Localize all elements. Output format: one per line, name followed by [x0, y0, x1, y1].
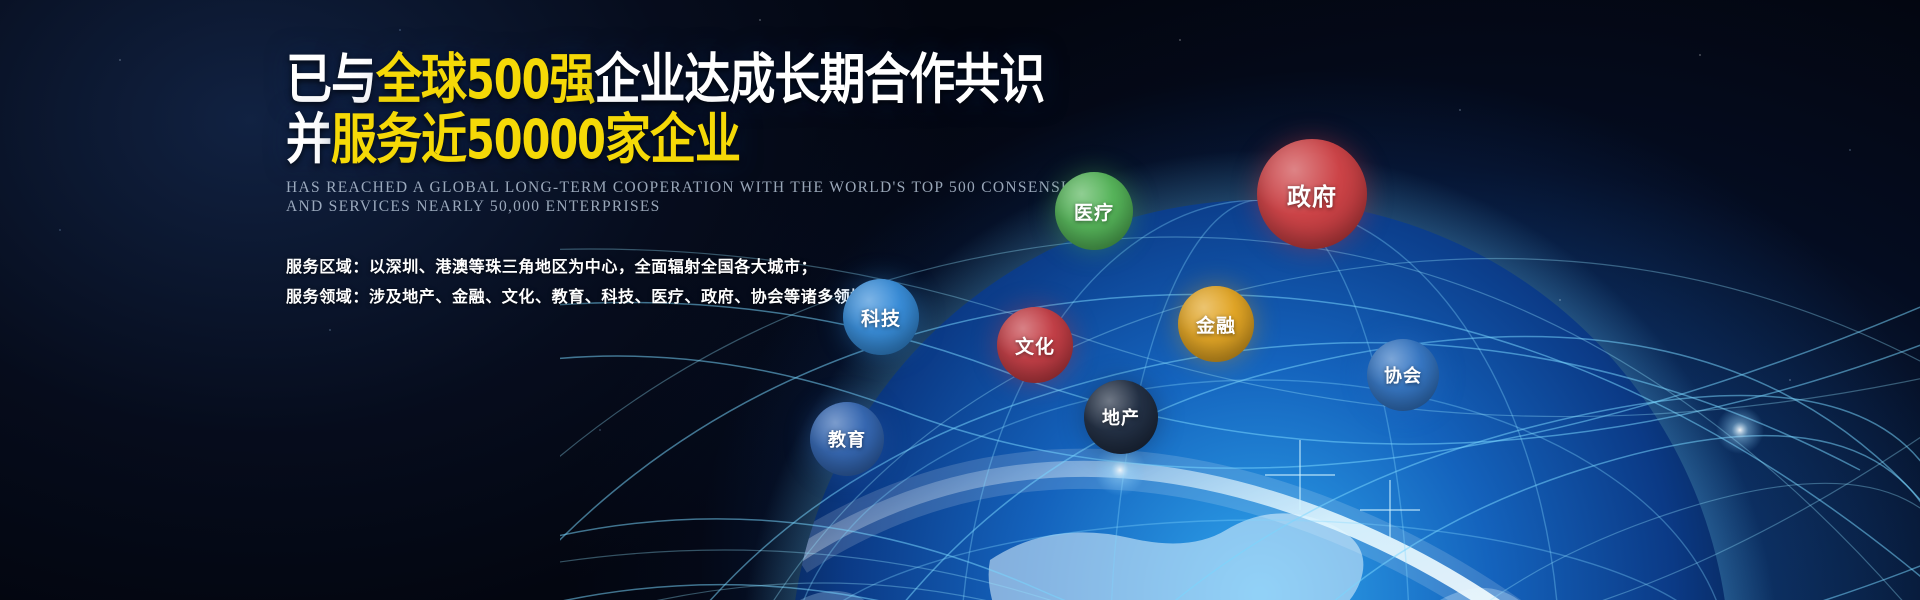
- bubble-government[interactable]: 政府: [1257, 139, 1367, 249]
- bubble-government-label: 政府: [1287, 177, 1337, 212]
- bubble-education-label: 教育: [828, 426, 866, 452]
- headline-l1-seg1: 已与: [286, 47, 376, 111]
- subtitle-line-2: AND SERVICES NEARLY 50,000 ENTERPRISES: [286, 197, 1286, 216]
- headline-copy-block: 已与全球500强企业达成长期合作共识 并服务近50000家企业 HAS REAC…: [286, 52, 1286, 312]
- bubble-technology-label: 科技: [861, 304, 901, 331]
- banner-stage: 已与全球500强企业达成长期合作共识 并服务近50000家企业 HAS REAC…: [0, 0, 1920, 600]
- bubble-culture[interactable]: 文化: [997, 307, 1073, 383]
- bubble-healthcare-label: 医疗: [1074, 198, 1114, 225]
- headline-l2-seg2: 服务近50000家企业: [331, 107, 740, 171]
- bubble-finance[interactable]: 金融: [1178, 286, 1254, 362]
- bubble-finance-label: 金融: [1196, 311, 1236, 338]
- headline-line-2: 并服务近50000家企业: [286, 112, 1286, 166]
- bubble-education[interactable]: 教育: [810, 402, 884, 476]
- bubble-realestate[interactable]: 地产: [1084, 380, 1158, 454]
- sparkle-cluster-icon: [1240, 420, 1460, 580]
- headline-l1-seg3: 企业达成长期合作共识: [594, 47, 1044, 111]
- subtitle-block: HAS REACHED A GLOBAL LONG-TERM COOPERATI…: [286, 178, 1286, 216]
- bubble-association[interactable]: 协会: [1367, 339, 1439, 411]
- bubble-technology[interactable]: 科技: [843, 279, 919, 355]
- headline-l2-seg1: 并: [286, 107, 331, 171]
- subtitle-line-1: HAS REACHED A GLOBAL LONG-TERM COOPERATI…: [286, 178, 1286, 197]
- headline: 已与全球500强企业达成长期合作共识 并服务近50000家企业: [286, 52, 1286, 158]
- bubble-realestate-label: 地产: [1102, 404, 1140, 430]
- bubble-culture-label: 文化: [1015, 332, 1055, 359]
- body-line-service-fields: 服务领域：涉及地产、金融、文化、教育、科技、医疗、政府、协会等诸多领域。: [286, 282, 1286, 312]
- headline-l1-seg2: 全球500强: [376, 47, 594, 111]
- bubble-healthcare[interactable]: 医疗: [1055, 172, 1133, 250]
- body-copy: 服务区域：以深圳、港澳等珠三角地区为中心，全面辐射全国各大城市； 服务领域：涉及…: [286, 252, 1286, 312]
- bubble-association-label: 协会: [1384, 362, 1422, 388]
- body-line-service-area: 服务区域：以深圳、港澳等珠三角地区为中心，全面辐射全国各大城市；: [286, 252, 1286, 282]
- headline-line-1: 已与全球500强企业达成长期合作共识: [286, 52, 1286, 106]
